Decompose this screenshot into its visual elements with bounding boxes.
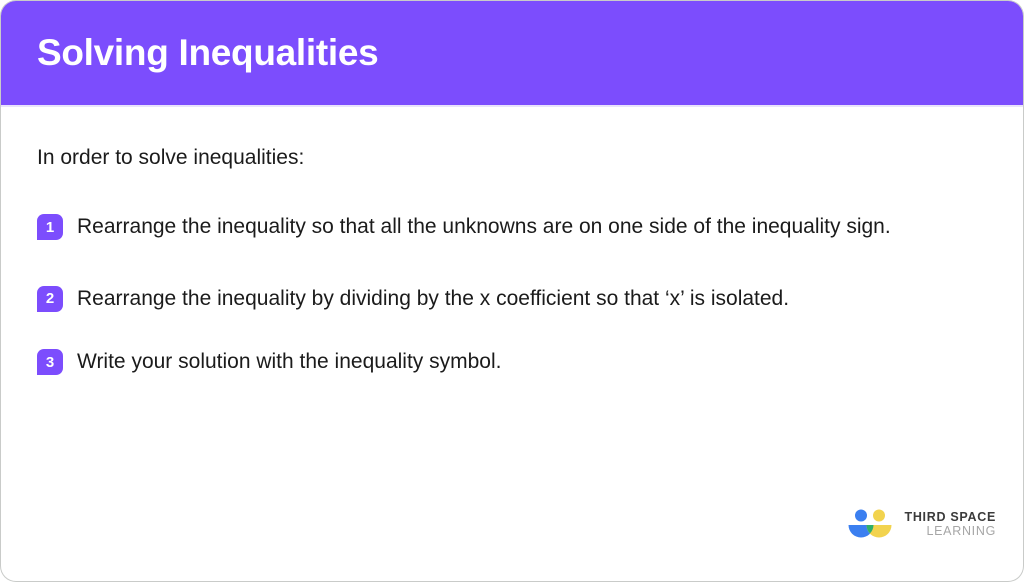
step-number-badge: 1 bbox=[37, 214, 63, 240]
step-number-badge: 2 bbox=[37, 286, 63, 312]
lesson-card: Solving Inequalities In order to solve i… bbox=[0, 0, 1024, 582]
two-people-logo-icon bbox=[847, 509, 893, 539]
page-title: Solving Inequalities bbox=[1, 33, 378, 74]
card-header: Solving Inequalities bbox=[1, 1, 1024, 105]
step-text: Rearrange the inequality by dividing by … bbox=[77, 283, 789, 315]
step-text: Rearrange the inequality so that all the… bbox=[77, 211, 891, 243]
brand-logo: THIRD SPACE LEARNING bbox=[847, 509, 996, 539]
list-item: 2 Rearrange the inequality by dividing b… bbox=[37, 283, 991, 315]
logo-line-1: THIRD SPACE bbox=[904, 510, 996, 524]
intro-text: In order to solve inequalities: bbox=[37, 138, 991, 171]
list-item: 1 Rearrange the inequality so that all t… bbox=[37, 211, 991, 243]
steps-list: 1 Rearrange the inequality so that all t… bbox=[37, 211, 991, 378]
step-text: Write your solution with the inequality … bbox=[77, 346, 501, 378]
logo-wordmark: THIRD SPACE LEARNING bbox=[904, 510, 996, 538]
list-item: 3 Write your solution with the inequalit… bbox=[37, 346, 991, 378]
step-number-badge: 3 bbox=[37, 349, 63, 375]
logo-line-2: LEARNING bbox=[926, 524, 996, 538]
